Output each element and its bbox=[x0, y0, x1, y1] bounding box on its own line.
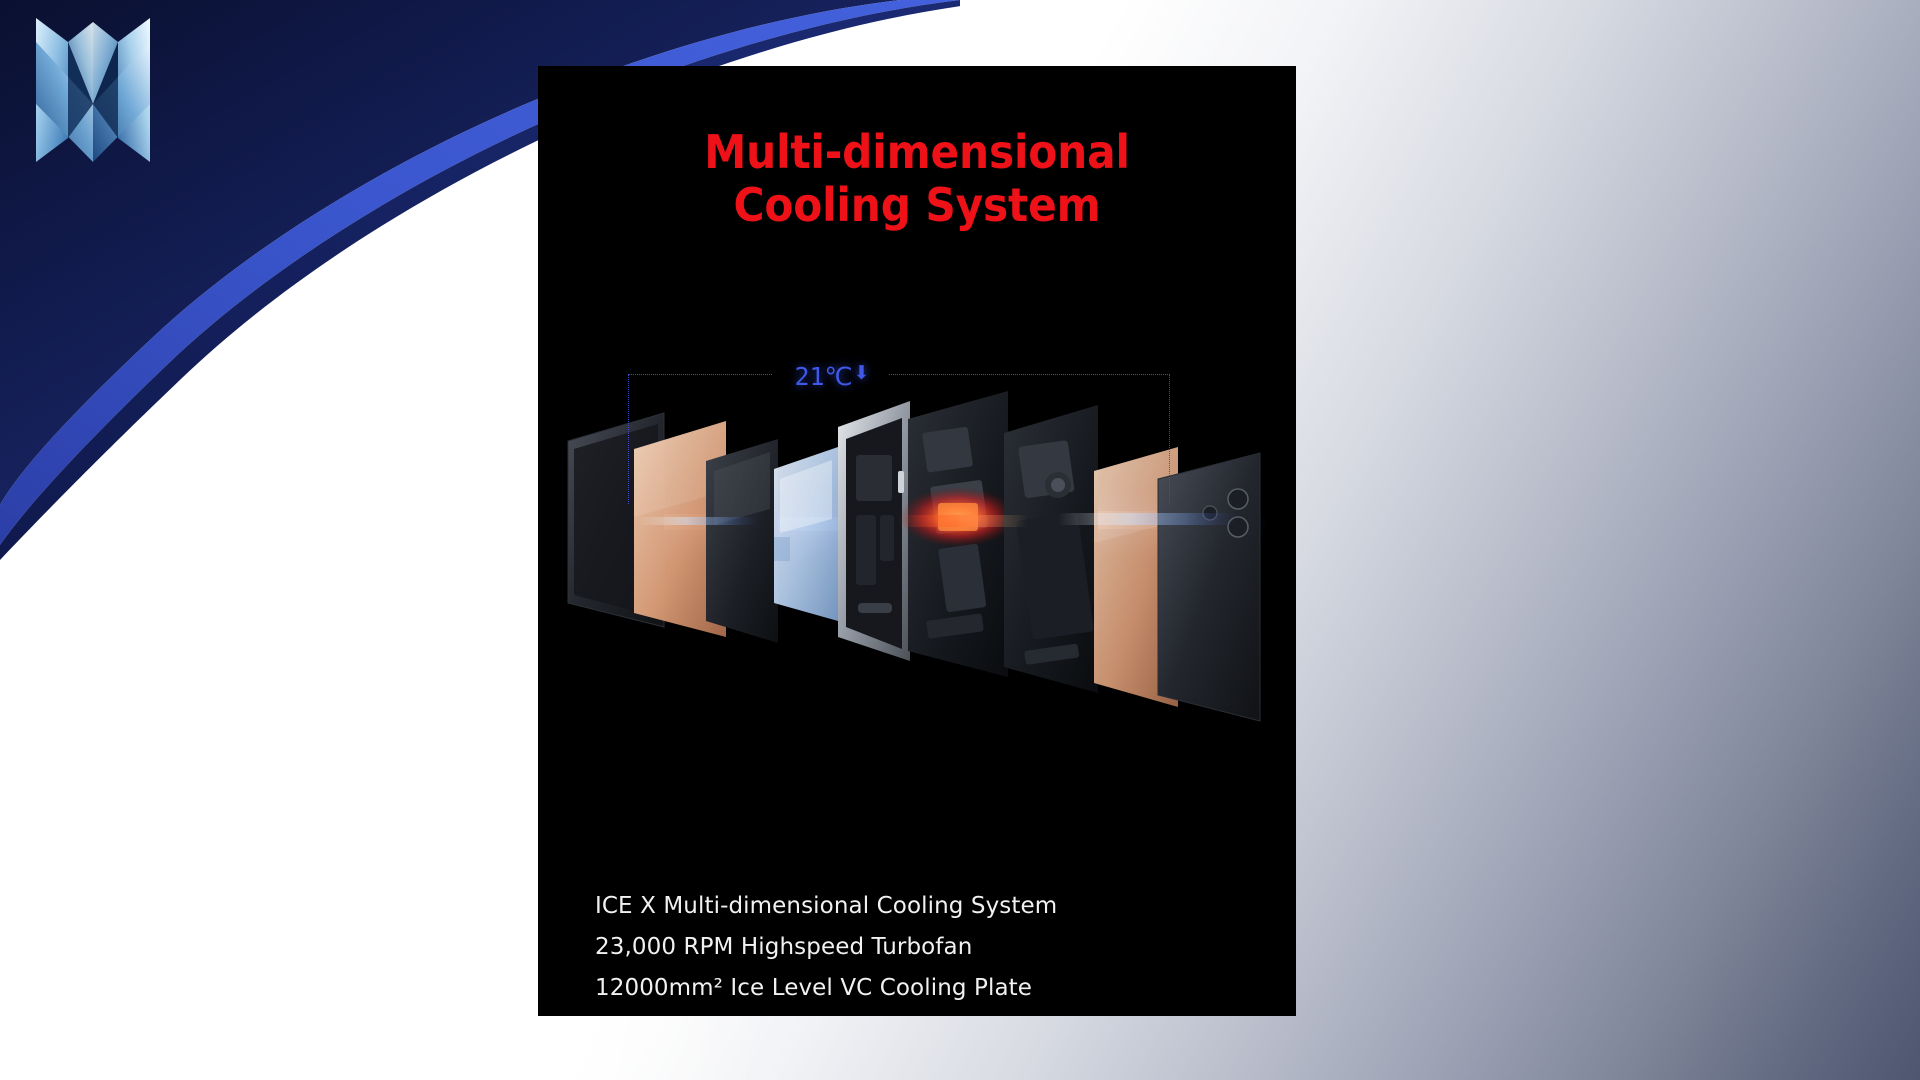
headline-line-1: Multi-dimensional bbox=[704, 125, 1130, 179]
slide-canvas: Multi-dimensional Cooling System bbox=[0, 0, 1920, 1080]
spec-item-2: 23,000 RPM Highspeed Turbofan bbox=[595, 927, 1057, 968]
headline-line-2: Cooling System bbox=[568, 179, 1265, 232]
temperature-readout: 21℃⬇ bbox=[773, 362, 891, 391]
layer-rear-cover bbox=[1158, 453, 1260, 721]
temperature-value: 21℃ bbox=[794, 362, 852, 391]
temperature-bracket bbox=[628, 374, 1170, 504]
product-panel: Multi-dimensional Cooling System bbox=[538, 66, 1296, 1016]
spec-item-3: 12000mm² Ice Level VC Cooling Plate bbox=[595, 968, 1057, 1009]
arrow-down-icon: ⬇ bbox=[854, 362, 870, 384]
m-logo-icon bbox=[28, 12, 158, 162]
page-title: Multi-dimensional Cooling System bbox=[568, 126, 1265, 233]
spec-list: ICE X Multi-dimensional Cooling System 2… bbox=[595, 886, 1057, 1009]
spec-item-1: ICE X Multi-dimensional Cooling System bbox=[595, 886, 1057, 927]
